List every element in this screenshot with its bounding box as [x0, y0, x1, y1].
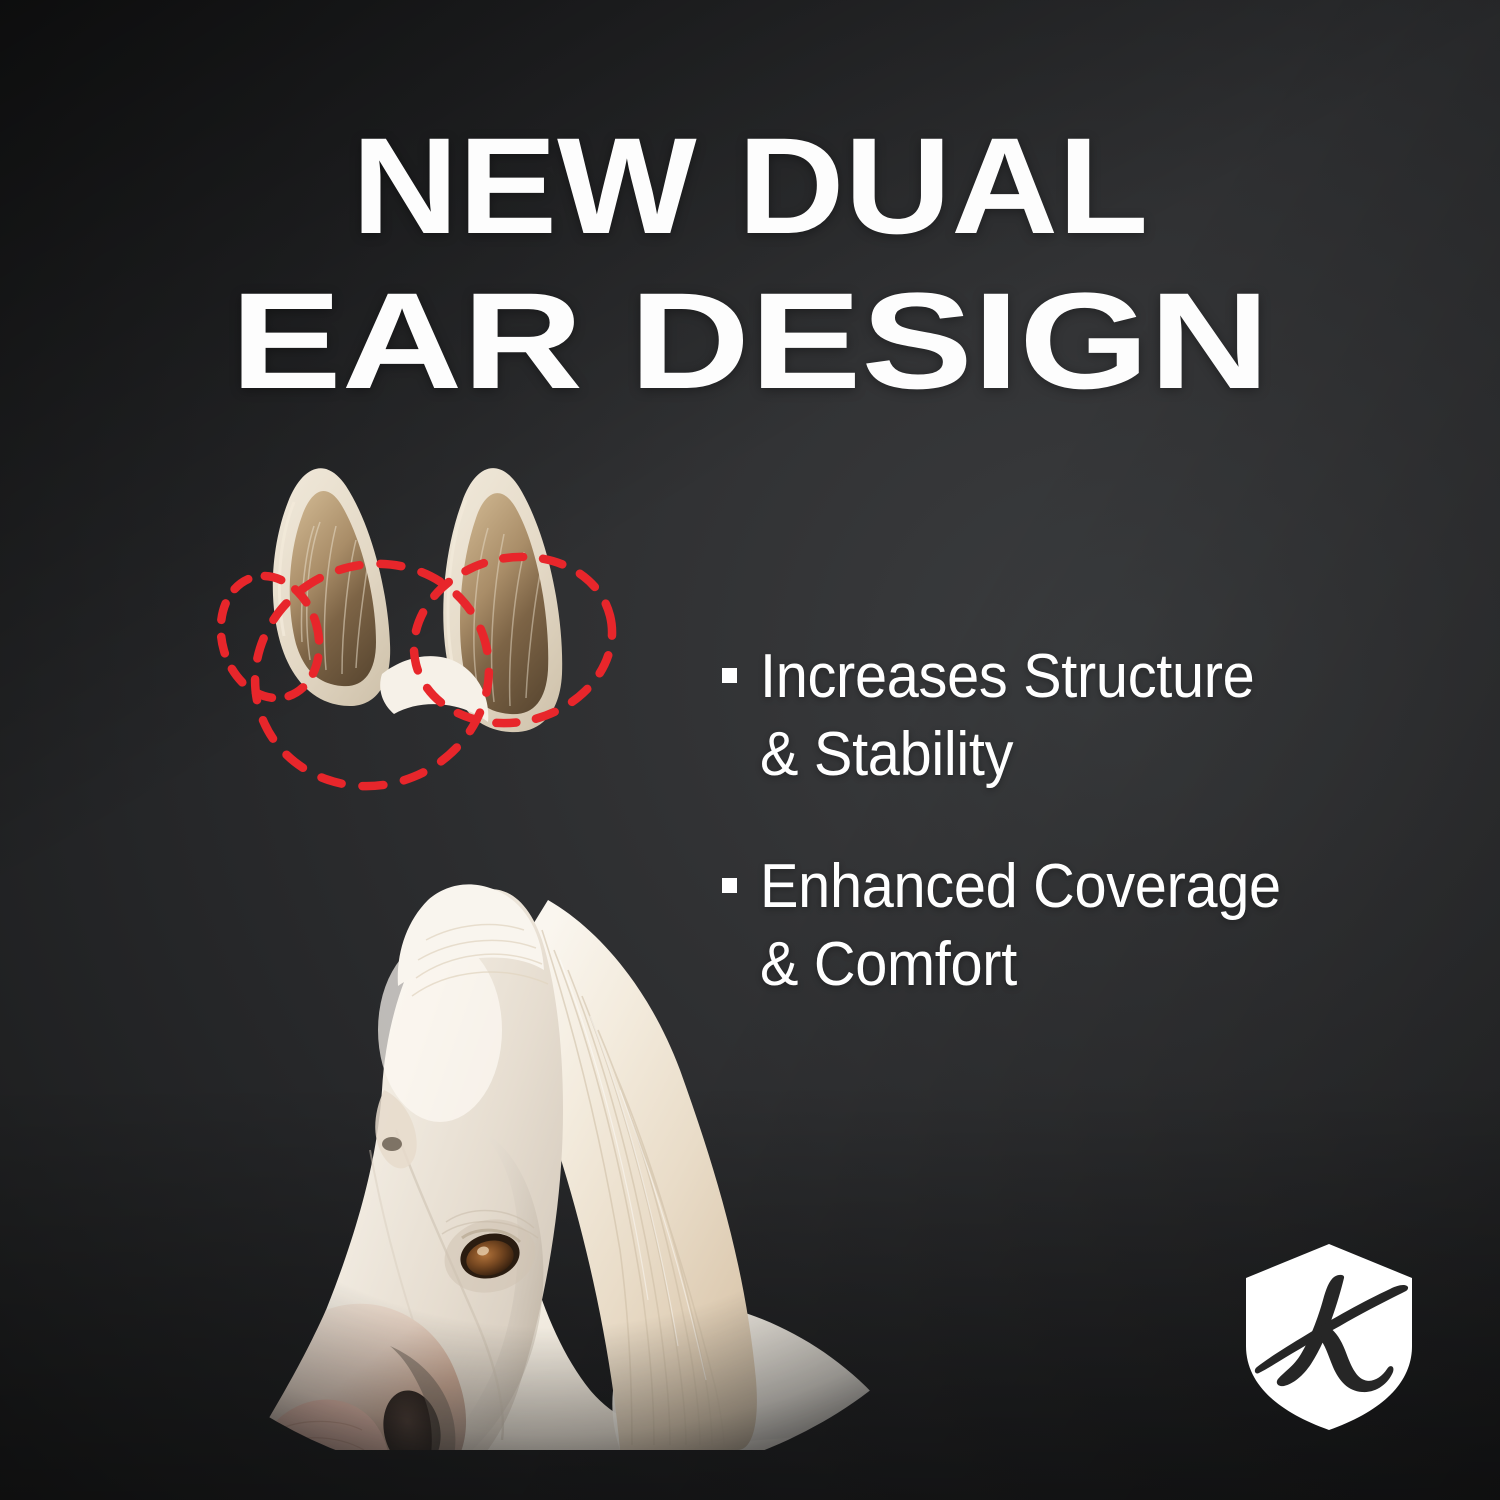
headline-line-1: NEW DUAL [0, 118, 1500, 255]
page-title: NEW DUAL EAR DESIGN [0, 118, 1500, 410]
square-bullet-icon [722, 878, 737, 893]
list-item-label: Enhanced Coverage & Comfort [760, 848, 1281, 1004]
list-item: Increases Structure & Stability [722, 638, 1422, 794]
poster-canvas: NEW DUAL EAR DESIGN [0, 0, 1500, 1500]
square-bullet-icon [722, 668, 737, 683]
list-item-label: Increases Structure & Stability [760, 638, 1254, 794]
list-item: Enhanced Coverage & Comfort [722, 848, 1422, 1004]
horse-ear-left [273, 468, 390, 706]
feature-list: Increases Structure & Stability Enhanced… [722, 638, 1422, 1058]
headline-line-2: EAR DESIGN [0, 273, 1500, 410]
brand-logo [1240, 1242, 1418, 1432]
